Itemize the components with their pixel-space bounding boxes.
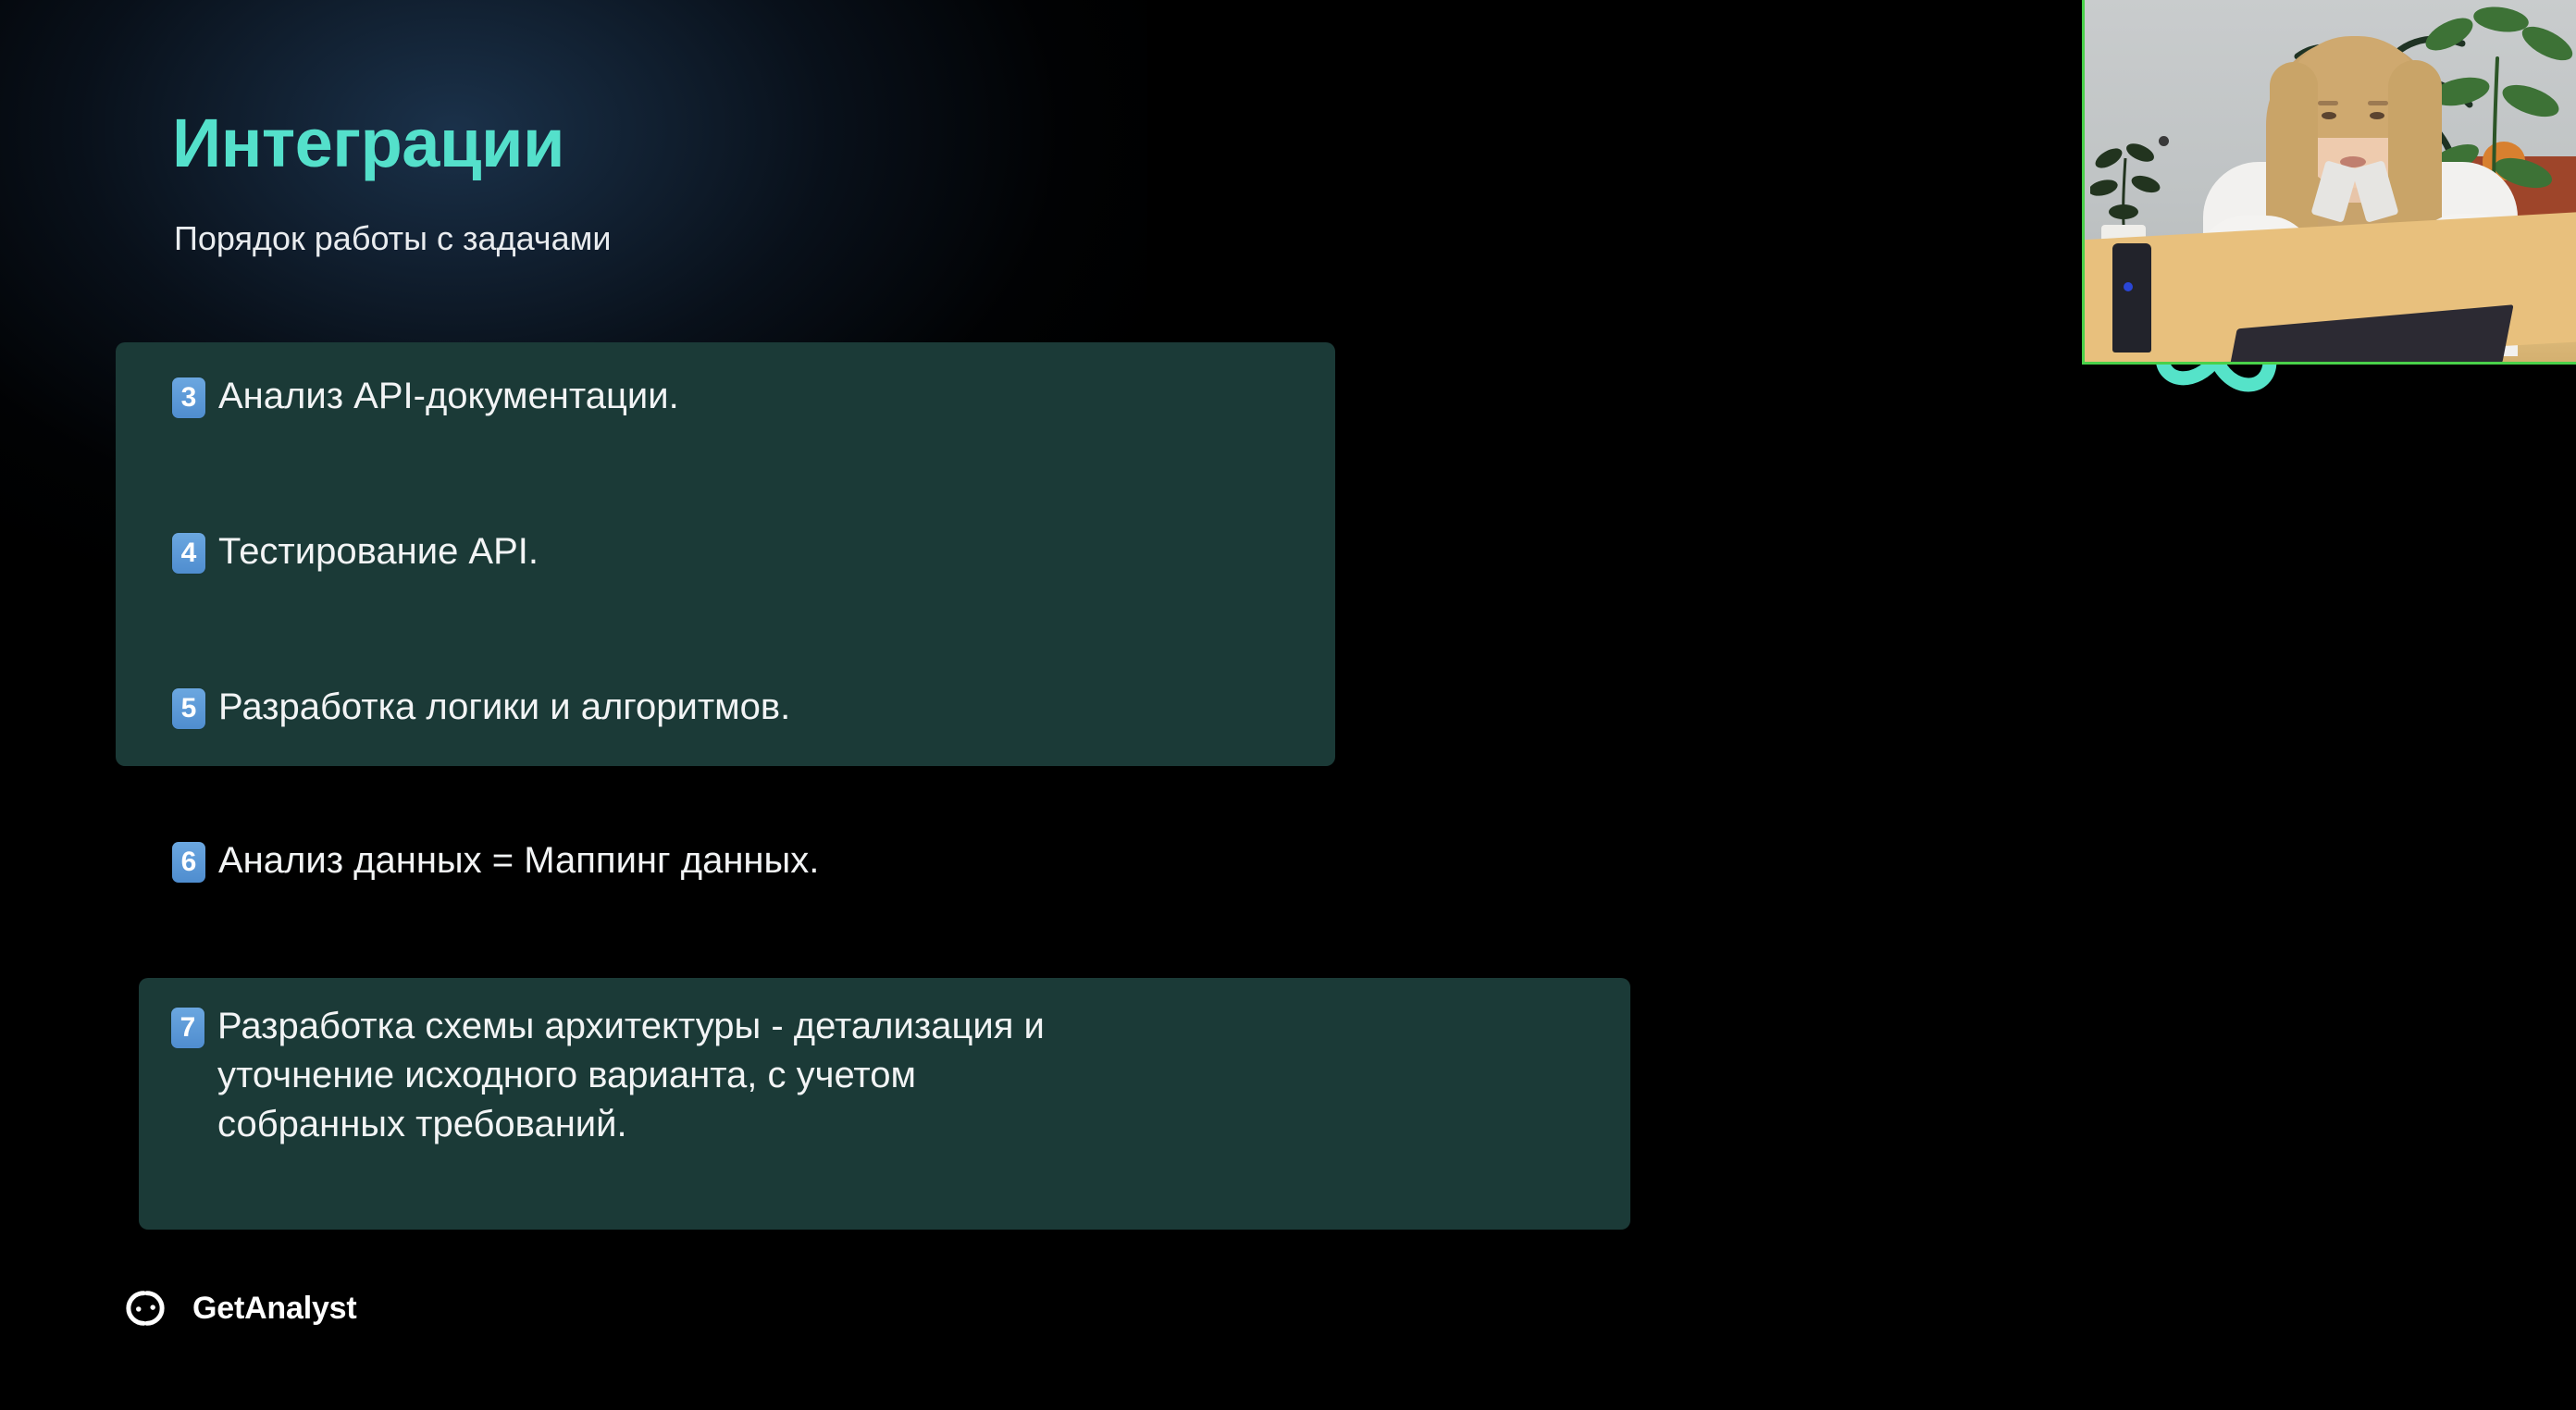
step-number-badge: 7 <box>171 1008 204 1048</box>
person-eye-left <box>2322 112 2336 119</box>
webcam-video-tile[interactable] <box>2082 0 2576 365</box>
brand-name: GetAnalyst <box>192 1292 357 1324</box>
list-item-label: Анализ данных = Маппинг данных. <box>218 836 819 885</box>
person-eye-right <box>2370 112 2384 119</box>
list-item: 4 Тестирование API. <box>172 527 539 576</box>
step-number-badge: 3 <box>172 377 205 418</box>
step-number-badge: 4 <box>172 533 205 574</box>
footer-brand: GetAnalyst <box>118 1281 357 1335</box>
list-item-label: Анализ API-документации. <box>218 372 679 421</box>
list-item: 6 Анализ данных = Маппинг данных. <box>172 836 819 885</box>
list-item-label: Разработка логики и алгоритмов. <box>218 683 790 732</box>
list-item-label: Разработка схемы архитектуры - детализац… <box>217 1002 1045 1148</box>
linked-circles-icon <box>118 1281 172 1335</box>
list-item-label: Тестирование API. <box>218 527 539 576</box>
presentation-screen: Интеграции Порядок работы с задачами 3 А… <box>0 0 2576 1410</box>
person-eyebrow-right <box>2368 101 2388 105</box>
page-subtitle: Порядок работы с задачами <box>174 222 611 255</box>
step-number-badge: 5 <box>172 688 205 729</box>
list-item: 3 Анализ API-документации. <box>172 372 679 421</box>
person-eyebrow-left <box>2318 101 2338 105</box>
list-item: 5 Разработка логики и алгоритмов. <box>172 683 790 732</box>
step-number-badge: 6 <box>172 842 205 883</box>
page-title: Интеграции <box>172 109 564 178</box>
list-item: 7 Разработка схемы архитектуры - детализ… <box>171 1002 1596 1148</box>
microphone <box>2112 243 2151 352</box>
